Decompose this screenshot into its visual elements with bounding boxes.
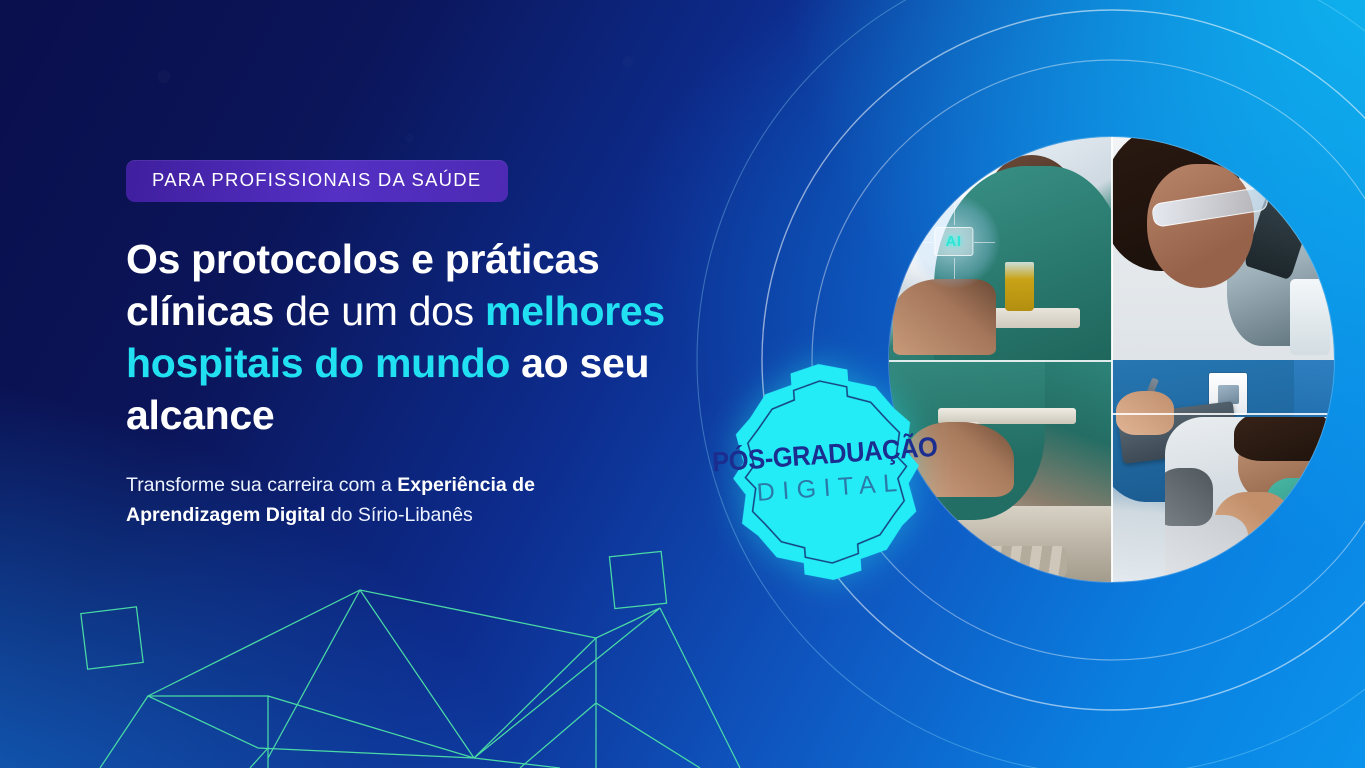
- banner-stage: PARA PROFISSIONAIS DA SAÚDE Os protocolo…: [0, 0, 1365, 768]
- headline-segment-2: de um dos: [274, 288, 485, 334]
- copy-column: PARA PROFISSIONAIS DA SAÚDE Os protocolo…: [126, 160, 746, 531]
- patient-arm: [893, 279, 995, 355]
- pos-graduacao-digital-seal: PÓS-GRADUAÇÃO DIGITAL: [704, 350, 947, 593]
- collage-photo-nurse-tablet: [1112, 360, 1335, 583]
- subtitle-part-3: do Sírio-Libanês: [325, 504, 472, 526]
- eyebrow-badge: PARA PROFISSIONAIS DA SAÚDE: [126, 160, 508, 202]
- seal-shape-icon: [704, 350, 947, 593]
- gloved-hand: [1165, 468, 1214, 525]
- page-title: Os protocolos e práticas clínicas de um …: [126, 234, 726, 441]
- subtitle: Transforme sua carreira com a Experiênci…: [126, 471, 646, 530]
- juice-glass: [1005, 262, 1034, 311]
- collage-photo-oxygen-mask: [1165, 417, 1334, 582]
- subtitle-part-1: Transforme sua carreira com a: [126, 474, 397, 496]
- collage-photo-microscope-scientist: [1112, 137, 1335, 360]
- patient-hair: [1234, 417, 1334, 461]
- polygon-network-graphic: [0, 508, 760, 768]
- collage-photo-clinician-ai: AI: [889, 137, 1112, 360]
- ai-chip-label: AI: [934, 227, 973, 257]
- ai-hologram: AI: [907, 195, 1000, 288]
- collage-divider-horizontal-right: [1112, 413, 1335, 415]
- circular-photo-collage: AI: [889, 137, 1334, 582]
- lab-bottle: [1290, 279, 1330, 355]
